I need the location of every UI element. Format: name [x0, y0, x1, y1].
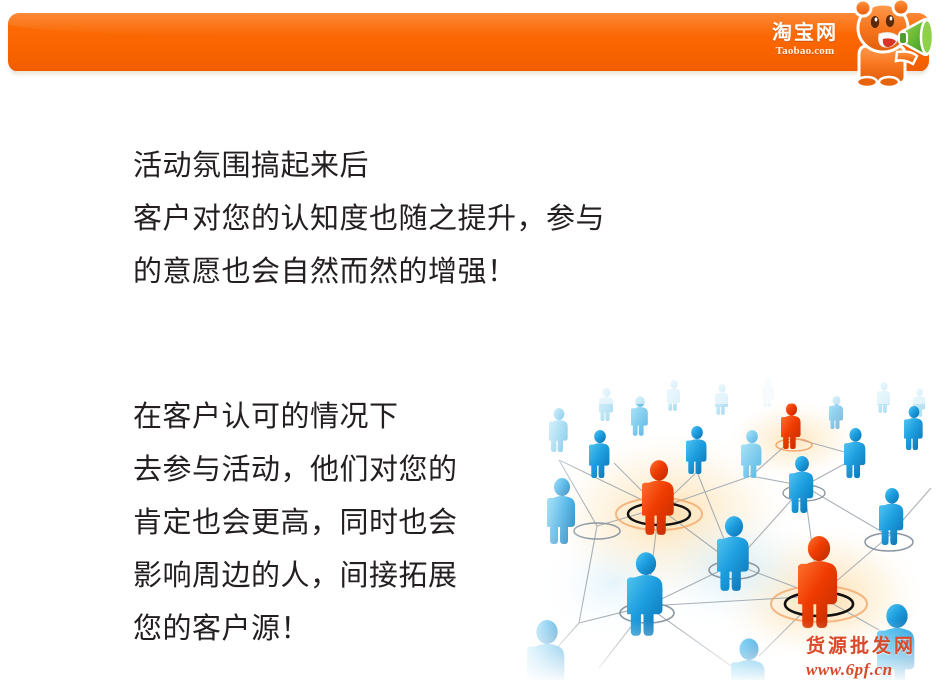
taobao-logo-en-text: Taobao.com — [757, 45, 853, 58]
paragraph-1-line-2: 客户对您的认知度也随之提升，参与 — [133, 192, 605, 245]
paragraph-1-line-3: 的意愿也会自然而然的增强！ — [133, 245, 605, 298]
watermark-cn-text: 货源批发网 — [806, 636, 941, 658]
paragraph-2: 在客户认可的情况下 去参与活动，他们对您的 肯定也会更高，同时也会 影响周边的人… — [133, 390, 458, 655]
paragraph-2-line-1: 在客户认可的情况下 — [133, 390, 458, 443]
taobao-mascot-icon — [843, 0, 945, 86]
slide-canvas: 淘宝网 Taobao.com — [0, 0, 945, 698]
paragraph-2-line-3: 肯定也会更高，同时也会 — [133, 496, 458, 549]
header-banner: 淘宝网 Taobao.com — [0, 0, 945, 86]
site-watermark: 货源批发网 www.6pf.cn — [806, 636, 941, 688]
social-network-illustration — [519, 368, 945, 680]
paragraph-2-line-2: 去参与活动，他们对您的 — [133, 443, 458, 496]
taobao-logo[interactable]: 淘宝网 Taobao.com — [757, 20, 853, 66]
paragraph-1: 活动氛围搞起来后 客户对您的认知度也随之提升，参与 的意愿也会自然而然的增强！ — [133, 139, 605, 298]
paragraph-1-line-1: 活动氛围搞起来后 — [133, 139, 605, 192]
paragraph-2-line-4: 影响周边的人，间接拓展 — [133, 549, 458, 602]
watermark-url-text: www.6pf.cn — [806, 660, 941, 680]
paragraph-2-line-5: 您的客户源！ — [133, 602, 458, 655]
taobao-logo-cn-text: 淘宝网 — [757, 20, 853, 44]
header-bar-shadow — [14, 71, 922, 77]
